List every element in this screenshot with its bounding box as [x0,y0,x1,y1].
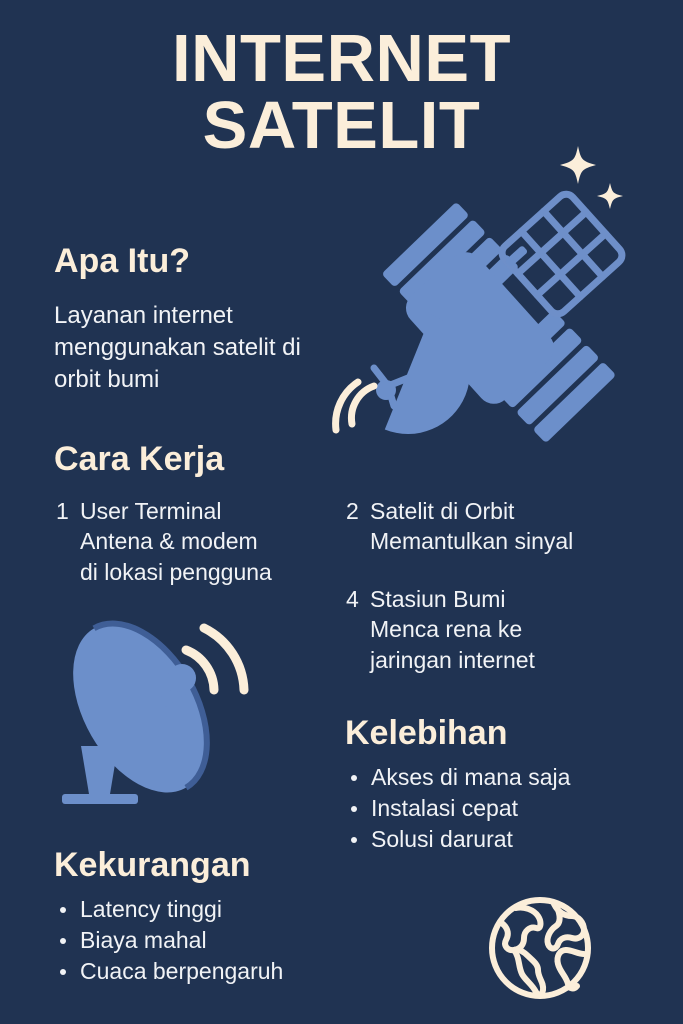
bullet-dot [351,837,357,843]
list-kelebihan: Akses di mana saja Instalasi cepat Solus… [349,762,570,855]
list-item: Instalasi cepat [349,793,570,824]
satellite-icon [330,190,640,450]
list-kekurangan: Latency tinggi Biaya mahal Cuaca berpeng… [58,894,283,987]
paragraph-apa-itu: Layanan internet menggunakan satelit di … [54,300,344,396]
list-item: Solusi darurat [349,824,570,855]
step-line: Stasiun Bumi [370,584,535,614]
infographic-poster: INTERNET SATELIT [0,0,683,1024]
heading-cara-kerja: Cara Kerja [54,442,224,478]
step-line: Satelit di Orbit [370,496,573,526]
globe-icon [480,888,600,1008]
step-line: jaringan internet [370,645,535,675]
step-item: 2 Satelit di Orbit Memantulkan sinyal [346,496,646,557]
step-line: Menca rena ke [370,614,535,644]
bullet-dot [60,969,66,975]
heading-kekurangan: Kekurangan [54,848,251,884]
step-number: 1 [56,496,80,526]
bullet-dot [60,907,66,913]
bullet-dot [351,806,357,812]
list-item: Cuaca berpengaruh [58,956,283,987]
list-item-label: Cuaca berpengaruh [80,958,283,984]
bullet-dot [351,775,357,781]
step-line: Antena & modem [80,526,272,556]
step-line: Memantulkan sinyal [370,526,573,556]
step-number: 4 [346,584,370,614]
list-item-label: Instalasi cepat [371,795,518,821]
step-lines: User Terminal Antena & modem di lokasi p… [80,496,272,587]
step-lines: Satelit di Orbit Memantulkan sinyal [370,496,573,557]
list-item: Akses di mana saja [349,762,570,793]
step-line: di lokasi pengguna [80,557,272,587]
step-item: 1 User Terminal Antena & modem di lokasi… [56,496,346,587]
step-number: 2 [346,496,370,526]
list-item-label: Biaya mahal [80,927,207,953]
heading-apa-itu: Apa Itu? [54,244,190,280]
list-item-label: Akses di mana saja [371,764,570,790]
step-line: User Terminal [80,496,272,526]
list-item-label: Solusi darurat [371,826,513,852]
step-lines: Stasiun Bumi Menca rena ke jaringan inte… [370,584,535,675]
list-item: Biaya mahal [58,925,283,956]
step-item: 4 Stasiun Bumi Menca rena ke jaringan in… [346,584,646,675]
bullet-dot [60,938,66,944]
list-item-label: Latency tinggi [80,896,222,922]
title-line-1: INTERNET [0,28,683,91]
satellite-dish-icon [48,598,278,820]
list-item: Latency tinggi [58,894,283,925]
heading-kelebihan: Kelebihan [345,716,507,752]
